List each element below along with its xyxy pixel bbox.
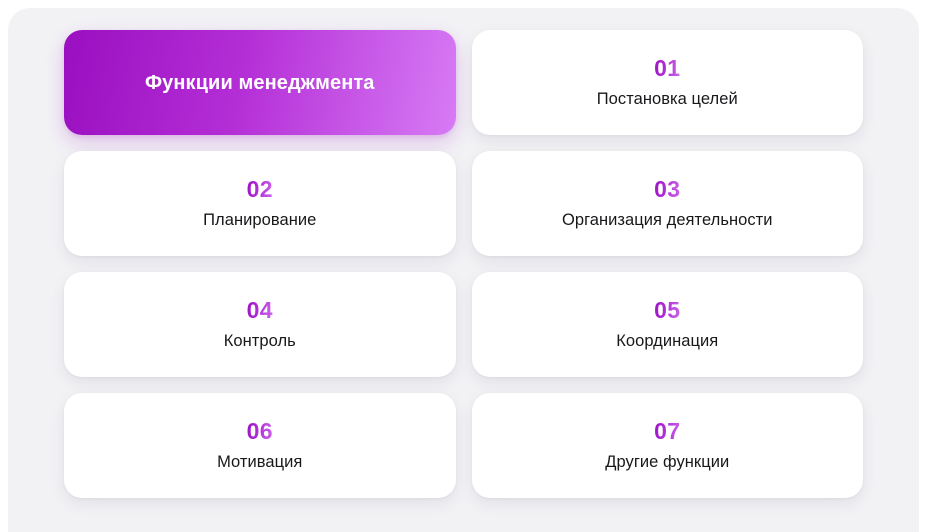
function-card-05[interactable]: 05 Координация [472,272,864,377]
functions-grid: Функции менеджмента 01 Постановка целей … [64,30,863,498]
card-number: 05 [654,298,680,323]
card-number: 07 [654,419,680,444]
page-title: Функции менеджмента [145,71,375,95]
header-title-card: Функции менеджмента [64,30,456,135]
function-card-04[interactable]: 04 Контроль [64,272,456,377]
card-number: 06 [247,419,273,444]
card-label: Мотивация [217,452,302,473]
card-label: Другие функции [605,452,729,473]
function-card-01[interactable]: 01 Постановка целей [472,30,864,135]
function-card-02[interactable]: 02 Планирование [64,151,456,256]
card-label: Постановка целей [597,89,738,110]
card-number: 03 [654,177,680,202]
function-card-06[interactable]: 06 Мотивация [64,393,456,498]
function-card-03[interactable]: 03 Организация деятельности [472,151,864,256]
card-label: Организация деятельности [562,210,773,231]
card-label: Контроль [224,331,296,352]
card-number: 04 [247,298,273,323]
card-number: 01 [654,56,680,81]
card-label: Планирование [203,210,316,231]
content-panel: Функции менеджмента 01 Постановка целей … [8,8,919,532]
function-card-07[interactable]: 07 Другие функции [472,393,864,498]
card-label: Координация [616,331,718,352]
card-number: 02 [247,177,273,202]
